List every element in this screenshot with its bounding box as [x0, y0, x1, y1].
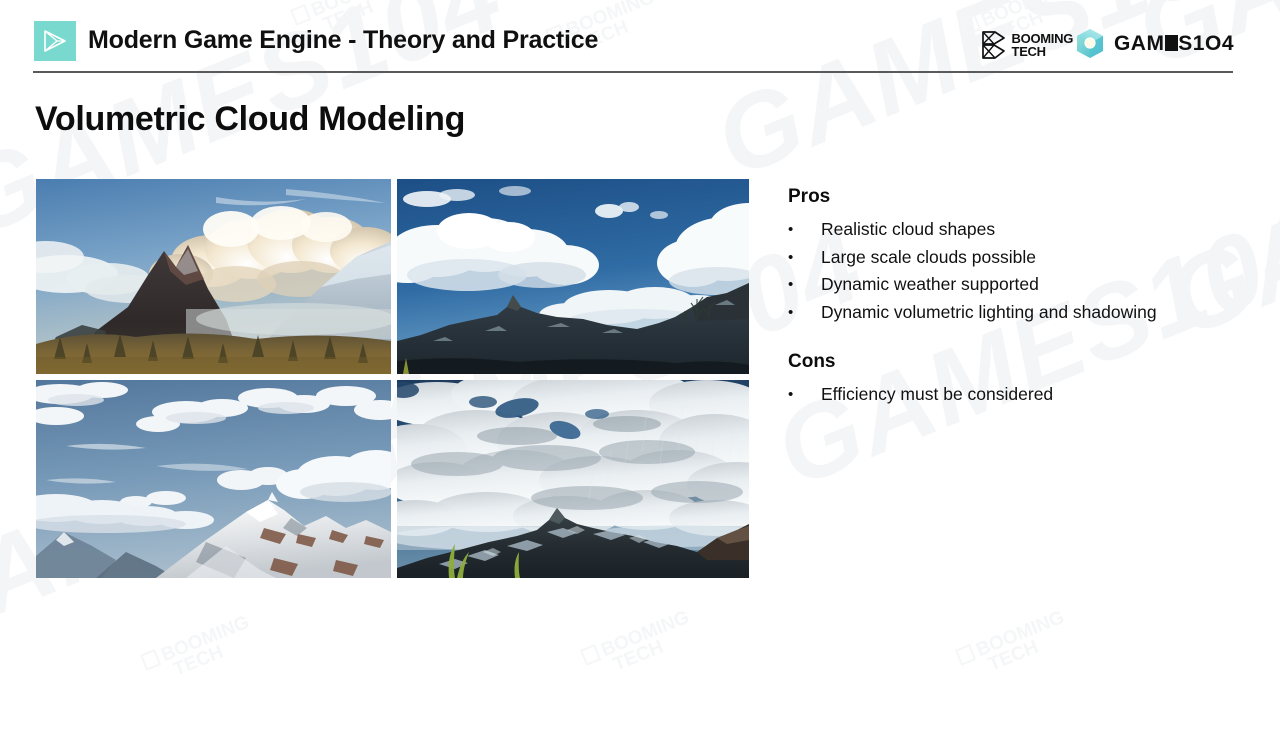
booming-tech-mark-icon [580, 644, 601, 666]
bullet-icon: • [788, 221, 821, 238]
bullet-icon: • [788, 386, 821, 403]
games104-text-b: S1O4 [1178, 32, 1234, 55]
cons-list: • Efficiency must be considered [788, 381, 1258, 409]
booming-tech-mark-icon [955, 644, 976, 666]
watermark-booming-tech: BOOMING TECH [955, 608, 1074, 685]
games104-block-glyph [1165, 35, 1178, 50]
booming-tech-mark-icon [140, 649, 161, 671]
volumetric-cloud-screenshot-4[interactable] [397, 380, 749, 578]
games104-text-a: GAM [1114, 32, 1165, 55]
page-title: Volumetric Cloud Modeling [35, 100, 465, 139]
bullet-icon: • [788, 304, 821, 321]
pros-list-item: • Dynamic weather supported [788, 271, 1258, 299]
pros-item-text: Large scale clouds possible [821, 249, 1258, 267]
games104-logo: GAMS1O4 [1075, 28, 1234, 59]
pros-heading: Pros [788, 186, 1258, 208]
volumetric-cloud-screenshot-1[interactable] [36, 179, 391, 374]
booming-tech-logo-icon [981, 30, 1008, 60]
volumetric-cloud-screenshot-2[interactable] [397, 179, 749, 374]
games104-cube-icon [1075, 28, 1105, 59]
volumetric-cloud-screenshot-3[interactable] [36, 380, 391, 578]
brand-logo [34, 21, 76, 61]
slide: GAMES104 GAMES104 GAMES104 GAMES104 GAME… [0, 0, 1280, 738]
cons-item-text: Efficiency must be considered [821, 386, 1258, 404]
play-triangle-icon [42, 29, 68, 53]
pros-item-text: Dynamic volumetric lighting and shadowin… [821, 304, 1258, 322]
bullet-icon: • [788, 249, 821, 266]
bullet-icon: • [788, 276, 821, 293]
cons-list-item: • Efficiency must be considered [788, 381, 1258, 409]
pros-list: • Realistic cloud shapes • Large scale c… [788, 216, 1258, 326]
header-divider [33, 71, 1233, 73]
booming-tech-logo: BOOMING TECH [981, 30, 1073, 60]
booming-tech-wordmark: BOOMING TECH [1012, 32, 1073, 59]
screenshot-gallery [36, 179, 749, 584]
cons-heading: Cons [788, 351, 1258, 373]
pros-list-item: • Realistic cloud shapes [788, 216, 1258, 244]
pros-list-item: • Dynamic volumetric lighting and shadow… [788, 299, 1258, 327]
pros-item-text: Dynamic weather supported [821, 276, 1258, 294]
watermark-booming-tech: BOOMING TECH [580, 608, 699, 685]
watermark-booming-tech: BOOMING TECH [140, 613, 259, 690]
pros-list-item: • Large scale clouds possible [788, 244, 1258, 272]
course-title: Modern Game Engine - Theory and Practice [88, 26, 598, 55]
booming-tech-line2: TECH [1012, 45, 1073, 58]
pros-item-text: Realistic cloud shapes [821, 221, 1258, 239]
slide-header: Modern Game Engine - Theory and Practice… [0, 0, 1280, 80]
notes-panel: Pros • Realistic cloud shapes • Large sc… [788, 186, 1258, 409]
booming-tech-line1: BOOMING [1012, 32, 1073, 45]
notes-spacer [788, 326, 1258, 351]
games104-wordmark: GAMS1O4 [1114, 32, 1234, 56]
